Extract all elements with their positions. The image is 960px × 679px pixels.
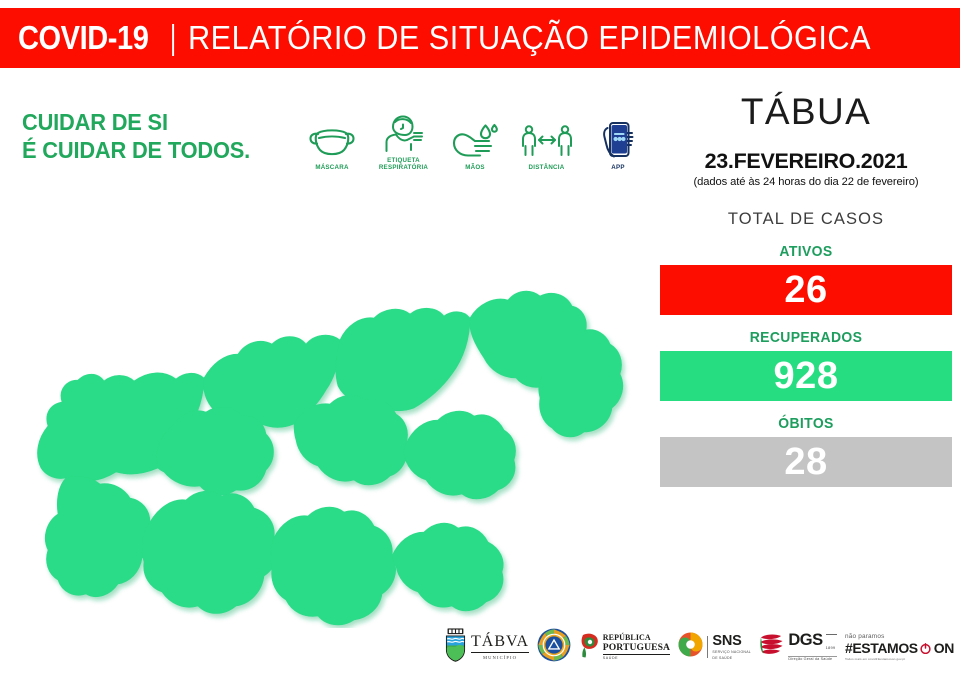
logo-sns: SNS SERVIÇO NACIONAL DE SAÚDE <box>678 632 751 662</box>
estamos-on-wordmark: não paramos #ESTAMOS ON Todos mais em co… <box>845 633 954 661</box>
dgs-subtitle: Direção Geral da Saúde <box>788 657 836 661</box>
page-title: TÁBUA <box>660 92 952 133</box>
map-parish <box>294 395 408 485</box>
dgs-year-mark: 1899 <box>826 633 837 654</box>
estamos-on-tagline: não paramos <box>845 633 954 640</box>
tabua-divider <box>471 652 529 653</box>
social-distance-icon <box>521 119 573 163</box>
tabua-subtitle: MUNICÍPIO <box>471 655 529 660</box>
sns-emblem-icon <box>678 632 703 662</box>
footer-logo-row: TÁBVA MUNICÍPIO <box>444 624 954 670</box>
estamos-on-hashtag: #ESTAMOS <box>845 641 918 655</box>
stat-label-ativos: ATIVOS <box>670 243 942 260</box>
map-parish <box>45 476 154 597</box>
stayaway-covid-app-icon <box>601 119 635 163</box>
republica-line-2: PORTUGUESA <box>603 643 670 653</box>
dgs-emblem-icon <box>759 632 785 662</box>
prevention-item-app: APP <box>586 106 650 172</box>
header-separator: | <box>170 19 176 58</box>
prevention-item-distance: DISTÂNCIA <box>515 106 579 172</box>
prevention-item-respiratory-etiquette: ETIQUETA RESPIRATÓRIA <box>372 106 436 172</box>
stat-value-obitos: 28 <box>784 443 827 481</box>
report-date: 23.FEVEREIRO.2021 <box>660 149 952 174</box>
logo-estamos-on: não paramos #ESTAMOS ON Todos mais em co… <box>845 633 954 661</box>
sns-subtitle-1: SERVIÇO NACIONAL <box>712 650 751 655</box>
report-date-note: (dados até às 24 horas do dia 22 de feve… <box>660 176 952 188</box>
logo-protecao-civil <box>537 628 571 667</box>
dgs-year: 1899 <box>826 645 836 650</box>
header-covid-label: COVID-19 <box>18 19 148 57</box>
logo-tabua-municipio: TÁBVA MUNICÍPIO <box>444 628 529 667</box>
estamos-on-footnote-row: Todos mais em covid19estamoson.gov.pt <box>845 657 954 661</box>
wash-hands-icon <box>451 119 499 163</box>
stat-block-recuperados: RECUPERADOS 928 <box>660 329 952 401</box>
stat-box-obitos: 28 <box>660 437 952 487</box>
republica-divider <box>603 654 670 655</box>
estamos-on-power-icon <box>918 643 931 654</box>
face-mask-icon <box>308 119 356 163</box>
statistics-panel: TÁBUA 23.FEVEREIRO.2021 (dados até às 24… <box>660 92 952 487</box>
stat-value-ativos: 26 <box>784 271 827 309</box>
map-parish <box>271 507 396 625</box>
stat-label-recuperados: RECUPERADOS <box>670 329 942 346</box>
map-parish <box>142 491 278 613</box>
sns-subtitle-2: DE SAÚDE <box>712 656 751 661</box>
report-header-bar: COVID-19 | RELATÓRIO DE SITUAÇÃO EPIDEMI… <box>0 8 960 68</box>
map-parish <box>404 411 516 499</box>
estamos-on-footnote: Todos mais em covid19estamoson.gov.pt <box>845 657 905 661</box>
tabua-wordmark: TÁBVA MUNICÍPIO <box>471 634 529 660</box>
prevention-item-hands: MÃOS <box>443 106 507 172</box>
stat-box-recuperados: 928 <box>660 351 952 401</box>
stat-label-obitos: ÓBITOS <box>670 415 942 432</box>
prevention-item-mask: MÁSCARA <box>300 106 364 172</box>
estamos-on-label: ON <box>934 641 954 655</box>
stat-block-obitos: ÓBITOS 28 <box>660 415 952 487</box>
total-cases-label: TOTAL DE CASOS <box>660 210 952 229</box>
stat-block-ativos: ATIVOS 26 <box>660 243 952 315</box>
logo-dgs: DGS 1899 Direção Geral da Saúde <box>759 632 836 662</box>
prevention-slogan: CUIDAR DE SI É CUIDAR DE TODOS. <box>22 108 250 164</box>
covid-situation-report: COVID-19 | RELATÓRIO DE SITUAÇÃO EPIDEMI… <box>0 0 960 679</box>
tabua-coat-of-arms-icon <box>444 628 467 667</box>
respiratory-etiquette-icon <box>381 112 427 156</box>
prevention-icons-row: MÁSCARA ETIQUETA RES <box>300 104 650 172</box>
estamos-on-main: #ESTAMOS ON <box>845 641 954 655</box>
sns-wordmark: SNS SERVIÇO NACIONAL DE SAÚDE <box>712 634 751 661</box>
logo-republica-portuguesa: REPÚBLICA PORTUGUESA SAÚDE <box>580 632 670 663</box>
tabua-municipality-map <box>8 168 668 628</box>
republica-subtitle: SAÚDE <box>603 656 670 660</box>
stat-box-ativos: 26 <box>660 265 952 315</box>
sns-name: SNS <box>712 634 751 649</box>
republica-wordmark: REPÚBLICA PORTUGUESA SAÚDE <box>603 634 670 659</box>
sns-divider <box>707 636 708 658</box>
dgs-name: DGS <box>788 633 822 648</box>
republica-portuguesa-shield-icon <box>580 632 600 663</box>
slogan-line-1: CUIDAR DE SI <box>22 108 250 136</box>
map-parish <box>392 523 503 611</box>
slogan-line-2: É CUIDAR DE TODOS. <box>22 136 250 164</box>
protecao-civil-emblem-icon <box>537 628 571 667</box>
header-title-group: COVID-19 | RELATÓRIO DE SITUAÇÃO EPIDEMI… <box>0 19 922 58</box>
stat-value-recuperados: 928 <box>774 357 839 395</box>
dgs-divider <box>788 656 836 657</box>
header-report-title: RELATÓRIO DE SITUAÇÃO EPIDEMIOLÓGICA <box>188 19 871 57</box>
dgs-title-row: DGS 1899 <box>788 633 836 654</box>
tabua-name: TÁBVA <box>471 634 529 650</box>
dgs-wordmark: DGS 1899 Direção Geral da Saúde <box>788 633 836 662</box>
